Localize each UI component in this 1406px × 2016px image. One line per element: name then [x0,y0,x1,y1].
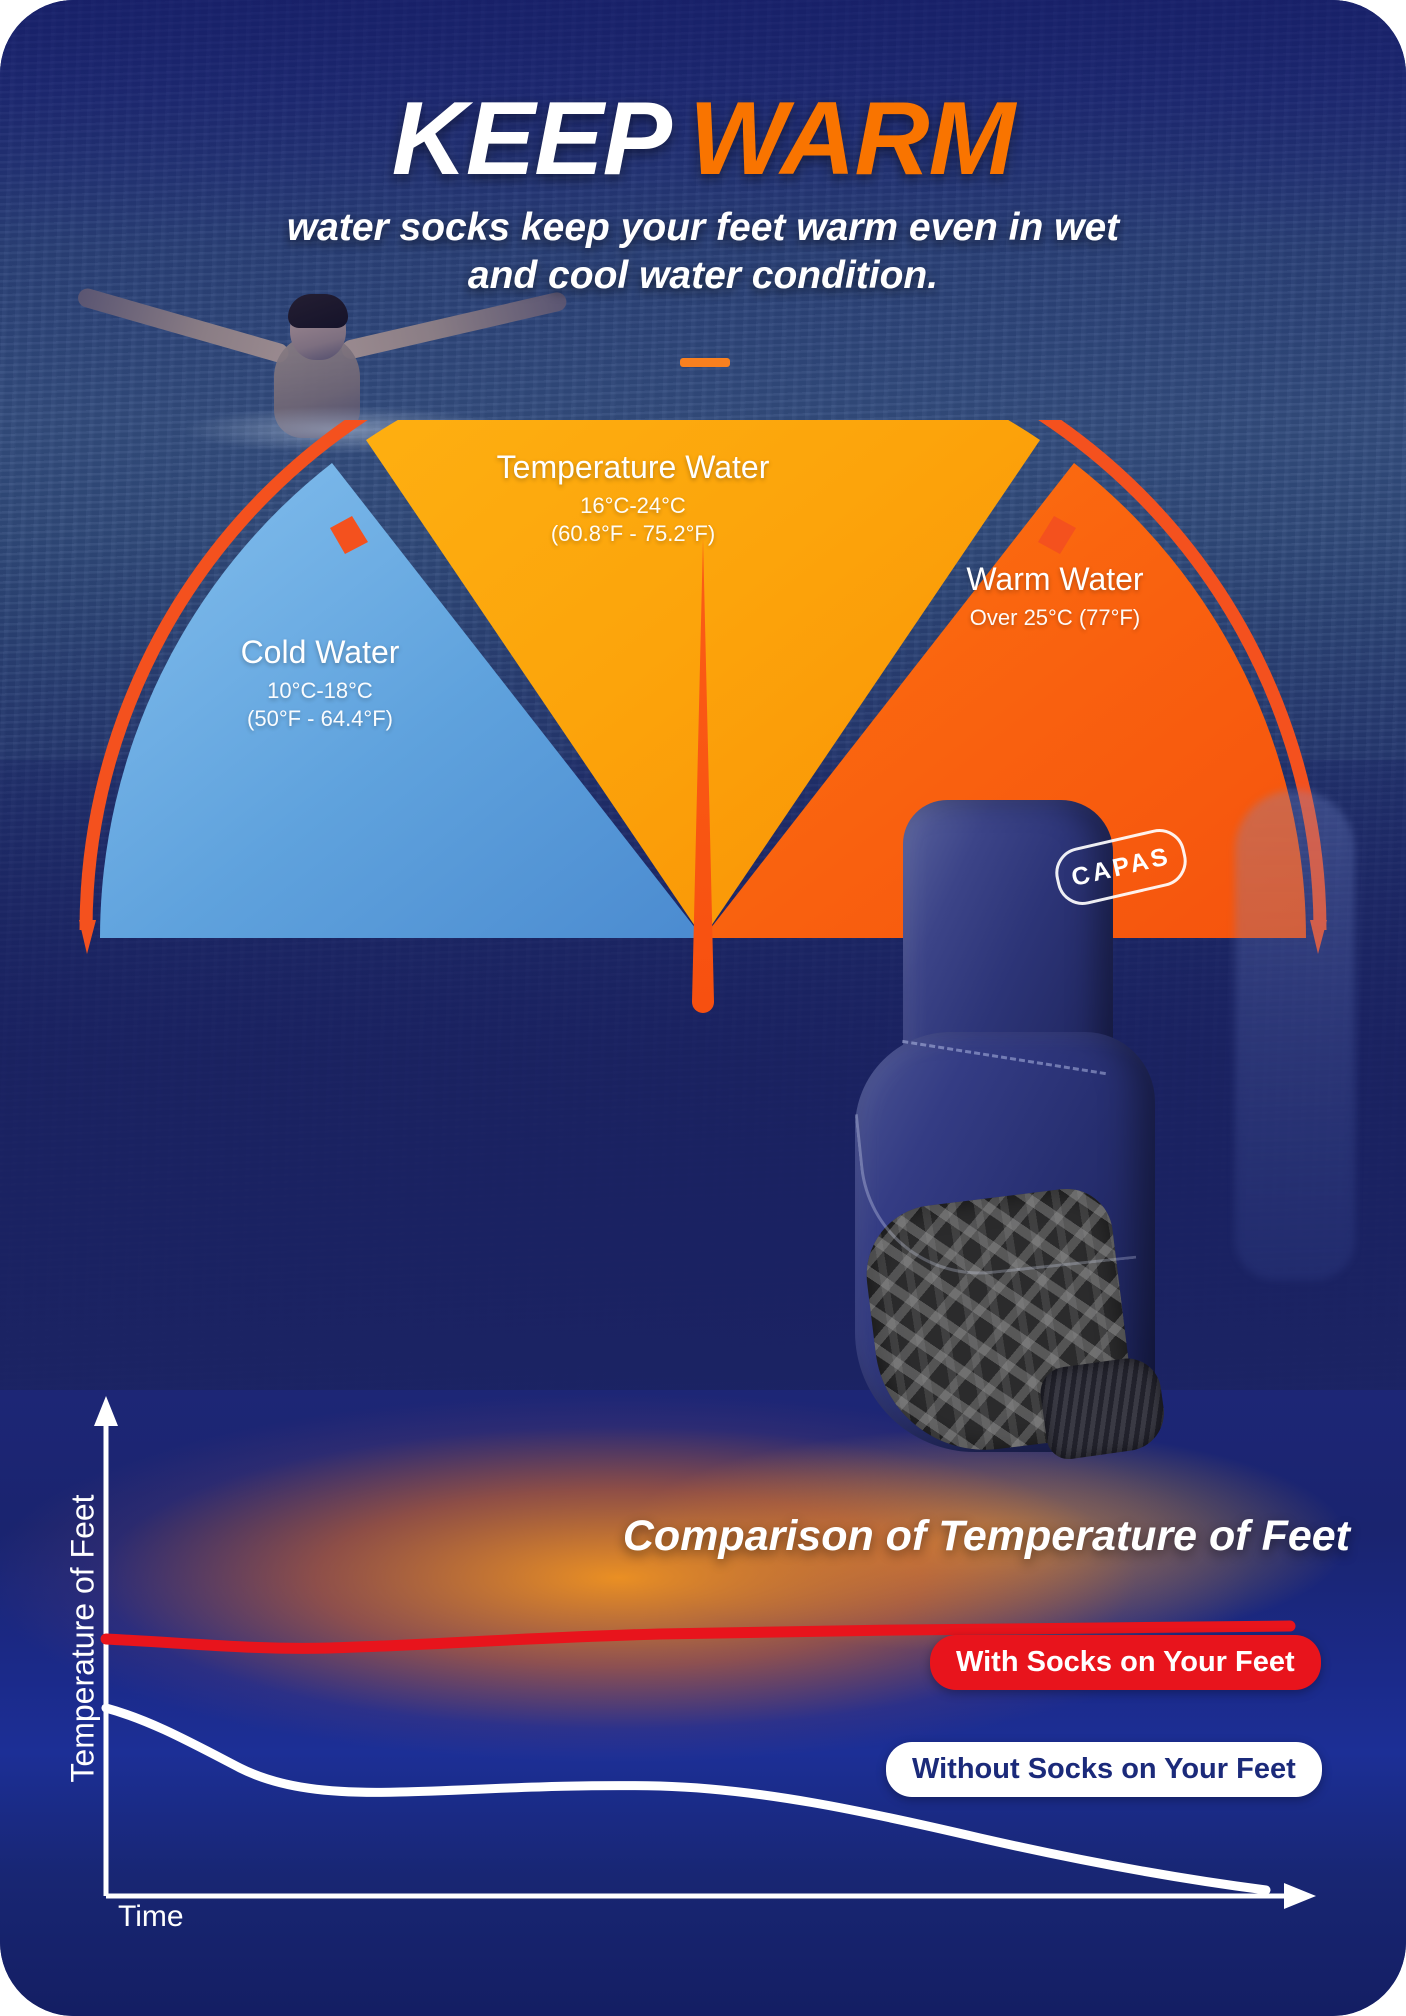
orange-divider-dash [680,358,730,367]
page-title: KEEPWARM [0,86,1406,192]
subtitle: water socks keep your feet warm even in … [253,204,1153,299]
swimmer-right-arm [340,291,568,361]
chart-legend-with-socks[interactable]: With Socks on Your Feet [930,1635,1321,1690]
sock-heel-cuff [1037,1354,1169,1462]
capas-logo-text: CAPAS [1069,842,1174,893]
chart-x-axis-arrow [1284,1883,1316,1909]
infographic-poster: KEEPWARM water socks keep your feet warm… [0,0,1406,2016]
chart-legend-without-socks[interactable]: Without Socks on Your Feet [886,1742,1322,1797]
comparison-chart: Comparison of Temperature of Feet Temper… [0,1390,1406,2016]
title-keep: KEEP [392,81,671,197]
title-warm: WARM [689,81,1014,197]
gauge-arc-cap-left [79,920,96,954]
water-sock-product-image: CAPAS [855,800,1245,1480]
chart-line-without-socks [106,1708,1266,1890]
chart-y-axis-arrow [94,1396,118,1426]
headline-block: KEEPWARM water socks keep your feet warm… [0,86,1406,299]
chart-plot-svg [0,1390,1406,2016]
sock-background-blur [1235,790,1355,1280]
